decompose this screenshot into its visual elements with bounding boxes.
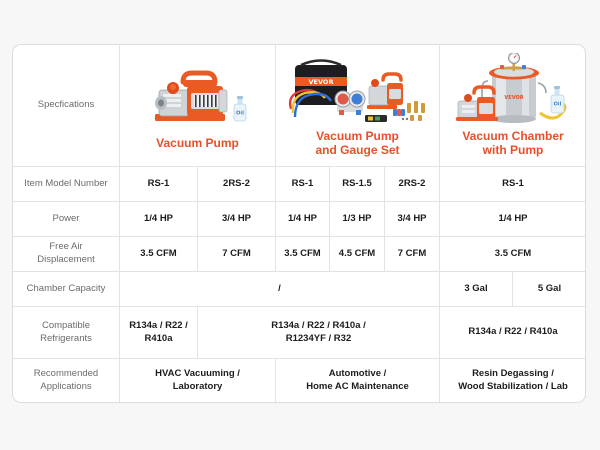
table-row-free-air-displacement: Free Air Displacement 3.5 CFM 7 CFM 3.5 … <box>13 237 585 272</box>
cell-power-6: 1/4 HP <box>440 202 586 236</box>
cell-cfm-5: 7 CFM <box>385 237 440 271</box>
cell-cfm-4: 4.5 CFM <box>330 237 385 271</box>
row-label-free-air-displacement: Free Air Displacement <box>13 237 120 271</box>
row-label-recommended-applications: Recommended Applications <box>13 359 120 403</box>
cell-applications-3: Resin Degassing / Wood Stabilization / L… <box>440 359 586 403</box>
cell-model-4: RS-1.5 <box>330 167 385 201</box>
vacuum-chamber-with-pump-image: VEVOR <box>444 53 582 127</box>
cell-model-2: 2RS-2 <box>198 167 276 201</box>
product-title-vacuum-chamber-with-pump: Vacuum Chamber with Pump <box>462 130 563 158</box>
svg-text:VEVOR: VEVOR <box>308 78 333 86</box>
cell-cfm-6: 3.5 CFM <box>440 237 586 271</box>
cell-model-3: RS-1 <box>276 167 330 201</box>
cell-power-4: 1/3 HP <box>330 202 385 236</box>
cell-cfm-2: 7 CFM <box>198 237 276 271</box>
product-title-vacuum-pump: Vacuum Pump <box>156 137 239 151</box>
cell-applications-2: Automotive / Home AC Maintenance <box>276 359 440 403</box>
table-header-row: Specfications <box>13 45 585 167</box>
cell-cfm-1: 3.5 CFM <box>120 237 198 271</box>
row-label-power: Power <box>13 202 120 236</box>
spec-column-header-label: Specfications <box>38 99 95 112</box>
table-row-compatible-refrigerants: Compatible Refrigerants R134a / R22 / R4… <box>13 307 585 359</box>
cell-power-1: 1/4 HP <box>120 202 198 236</box>
cell-capacity-none: / <box>120 272 440 306</box>
svg-text:Oil: Oil <box>236 110 244 116</box>
table-row-chamber-capacity: Chamber Capacity / 3 Gal 5 Gal <box>13 272 585 307</box>
vacuum-pump-gauge-set-image: VEVOR <box>283 53 433 127</box>
cell-power-3: 1/4 HP <box>276 202 330 236</box>
cell-capacity-5gal: 5 Gal <box>513 272 586 306</box>
product-title-vacuum-pump-and-gauge-set: Vacuum Pump and Gauge Set <box>315 130 399 158</box>
spec-column-header: Specfications <box>13 45 120 166</box>
svg-text:Oil: Oil <box>554 101 562 107</box>
cell-applications-1: HVAC Vacuuming / Laboratory <box>120 359 276 403</box>
product-comparison-table: Specfications <box>12 44 586 403</box>
svg-text:VEVOR: VEVOR <box>504 95 523 101</box>
row-label-chamber-capacity: Chamber Capacity <box>13 272 120 306</box>
table-row-power: Power 1/4 HP 3/4 HP 1/4 HP 1/3 HP 3/4 HP… <box>13 202 585 237</box>
cell-model-1: RS-1 <box>120 167 198 201</box>
page-root: Specfications <box>0 0 600 450</box>
row-label-item-model-number: Item Model Number <box>13 167 120 201</box>
table-row-item-model-number: Item Model Number RS-1 2RS-2 RS-1 RS-1.5… <box>13 167 585 202</box>
cell-refrigerants-1: R134a / R22 / R410a <box>120 307 198 358</box>
table-row-recommended-applications: Recommended Applications HVAC Vacuuming … <box>13 359 585 403</box>
cell-power-5: 3/4 HP <box>385 202 440 236</box>
product-column-vacuum-chamber-with-pump[interactable]: VEVOR <box>440 45 586 166</box>
product-column-vacuum-pump-and-gauge-set[interactable]: VEVOR <box>276 45 440 166</box>
cell-refrigerants-3: R134a / R22 / R410a <box>440 307 586 358</box>
product-column-vacuum-pump[interactable]: Oil Vacuum Pump <box>120 45 276 166</box>
cell-model-5: 2RS-2 <box>385 167 440 201</box>
vacuum-pump-image: Oil <box>139 60 257 134</box>
cell-cfm-3: 3.5 CFM <box>276 237 330 271</box>
cell-power-2: 3/4 HP <box>198 202 276 236</box>
row-label-compatible-refrigerants: Compatible Refrigerants <box>13 307 120 358</box>
cell-refrigerants-2: R134a / R22 / R410a / R1234YF / R32 <box>198 307 440 358</box>
cell-model-6: RS-1 <box>440 167 586 201</box>
cell-capacity-3gal: 3 Gal <box>440 272 513 306</box>
